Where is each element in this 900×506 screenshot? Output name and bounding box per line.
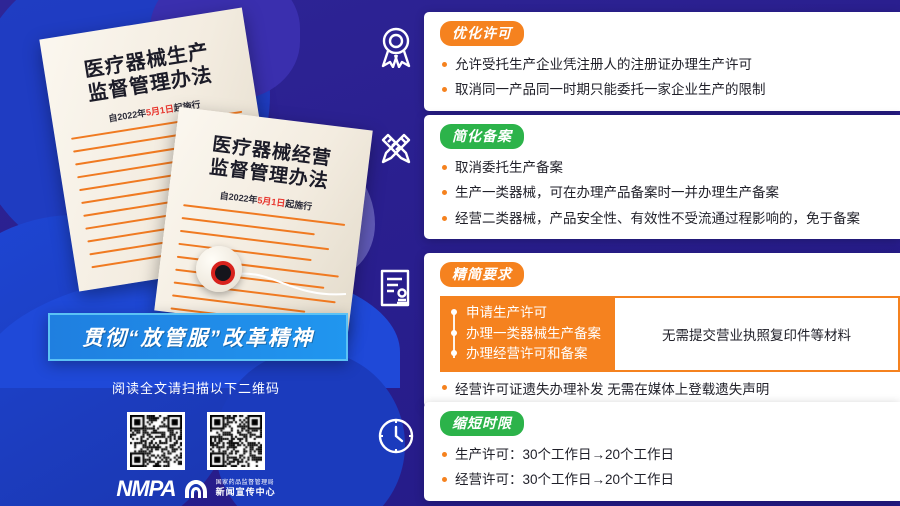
highlight-note-text: 无需提交营业执照复印件等材料 — [662, 324, 851, 344]
highlight-left-items: 申请生产许可 办理一类器械生产备案 办理经营许可和备案 — [440, 296, 615, 372]
effective-suffix: 起施行 — [285, 199, 313, 212]
section-badge: 缩短时限 — [440, 411, 524, 436]
effective-highlight: 5月1日 — [145, 103, 174, 117]
section-item-list: 允许受托生产企业凭注册人的注册证办理生产许可 取消同一产品同一时期只能委托一家企… — [440, 55, 900, 101]
effective-highlight: 5月1日 — [257, 195, 286, 208]
qr-code-group — [48, 412, 344, 470]
nmpa-org-name: 国家药品监督管理局 新闻宣传中心 — [216, 480, 276, 497]
section-card: 精简要求 申请生产许可 办理一类器械生产备案 办理经营许可和备案 无需提交营业执… — [424, 253, 900, 408]
nmpa-arch-icon — [183, 478, 209, 500]
list-item: 办理经营许可和备案 — [450, 344, 601, 365]
seal-thread-icon — [238, 268, 348, 308]
section-simplify-filing: 简化备案 取消委托生产备案 生产一类器械，可在办理产品备案时一并办理生产备案 经… — [368, 115, 900, 239]
section-item-list: 取消委托生产备案 生产一类器械，可在办理产品备案时一并办理生产备案 经营二类器械… — [440, 158, 900, 229]
effective-prefix: 自2022年 — [108, 108, 147, 124]
section-card: 简化备案 取消委托生产备案 生产一类器械，可在办理产品备案时一并办理生产备案 经… — [424, 115, 900, 239]
section-card: 缩短时限 生产许可：30个工作日→20个工作日 经营许可：30个工作日→20个工… — [424, 402, 900, 501]
award-ribbon-icon — [368, 12, 424, 111]
scan-instruction-text: 阅读全文请扫描以下二维码 — [48, 378, 344, 397]
list-item: 申请生产许可 — [450, 303, 601, 324]
section-badge: 优化许可 — [440, 21, 524, 46]
nmpa-logo: NMPA 国家药品监督管理局 新闻宣传中心 — [48, 476, 344, 502]
qr-code-distribution[interactable] — [207, 412, 265, 470]
section-streamline-requirements: 精简要求 申请生产许可 办理一类器械生产备案 办理经营许可和备案 无需提交营业执… — [368, 253, 900, 408]
section-item-list: 生产许可：30个工作日→20个工作日 经营许可：30个工作日→20个工作日 — [440, 445, 900, 491]
clock-icon — [368, 402, 424, 501]
list-item: 经营许可证遗失办理补发 无需在媒体上登载遗失声明 — [440, 378, 900, 398]
policy-sections: 优化许可 允许受托生产企业凭注册人的注册证办理生产许可 取消同一产品同一时期只能… — [368, 0, 900, 506]
highlight-right-note: 无需提交营业执照复印件等材料 — [615, 296, 900, 372]
document-stamp-icon — [368, 253, 424, 408]
nmpa-wordmark: NMPA — [116, 476, 175, 502]
section-optimize-license: 优化许可 允许受托生产企业凭注册人的注册证办理生产许可 取消同一产品同一时期只能… — [368, 12, 900, 111]
infographic-poster: 医疗器械生产 监督管理办法 自2022年5月1日起施行 医疗器械经营 监督管理办… — [0, 0, 900, 506]
section-shorten-timeline: 缩短时限 生产许可：30个工作日→20个工作日 经营许可：30个工作日→20个工… — [368, 402, 900, 501]
highlight-block: 申请生产许可 办理一类器械生产备案 办理经营许可和备案 无需提交营业执照复印件等… — [440, 296, 900, 372]
list-item: 办理一类器械生产备案 — [450, 324, 601, 345]
section-badge: 精简要求 — [440, 262, 524, 287]
effective-prefix: 自2022年 — [219, 191, 258, 206]
list-item: 取消委托生产备案 — [440, 158, 900, 178]
section-card: 优化许可 允许受托生产企业凭注册人的注册证办理生产许可 取消同一产品同一时期只能… — [424, 12, 900, 111]
list-item: 生产一类器械，可在办理产品备案时一并办理生产备案 — [440, 183, 900, 203]
list-item: 允许受托生产企业凭注册人的注册证办理生产许可 — [440, 55, 900, 75]
official-seal-icon — [196, 246, 242, 292]
qr-code-production[interactable] — [127, 412, 185, 470]
list-item: 经营许可：30个工作日→20个工作日 — [440, 470, 900, 490]
pencil-ruler-icon — [368, 115, 424, 239]
list-item: 经营二类器械，产品安全性、有效性不受流通过程影响的，免于备案 — [440, 209, 900, 229]
section-badge: 简化备案 — [440, 124, 524, 149]
nmpa-org-line2: 新闻宣传中心 — [216, 487, 276, 497]
list-item: 生产许可：30个工作日→20个工作日 — [440, 445, 900, 465]
campaign-banner-text: 贯彻“放管服”改革精神 — [82, 322, 314, 352]
list-item: 取消同一产品同一时期只能委托一家企业生产的限制 — [440, 80, 900, 100]
campaign-banner: 贯彻“放管服”改革精神 — [48, 313, 348, 361]
